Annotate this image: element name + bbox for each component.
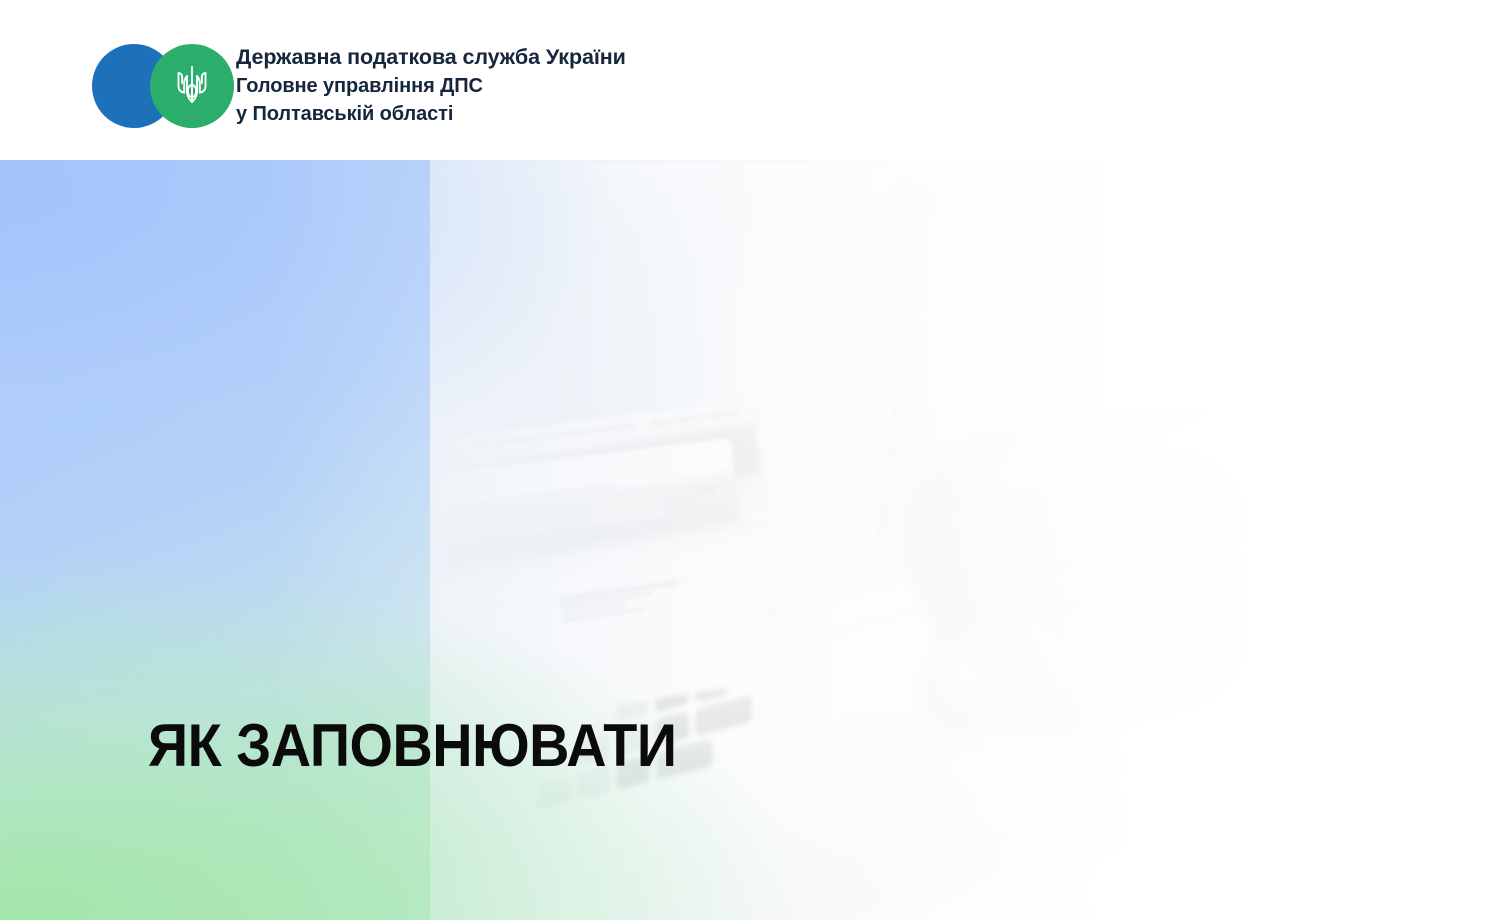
dps-logo[interactable] (92, 42, 224, 132)
organization-department: Головне управління ДПС (236, 73, 626, 99)
page-title: ЯК ЗАПОВНЮВАТИ РЕКВІЗИТ «ПРИЗНАЧЕННЯ ПЛА… (148, 578, 884, 920)
tryzub-icon (174, 64, 210, 108)
organization-region: у Полтавській області (236, 101, 626, 127)
brand-block[interactable]: Державна податкова служба України Головн… (92, 42, 626, 132)
organization-name: Державна податкова служба України (236, 44, 626, 71)
site-header: Державна податкова служба України Головн… (0, 0, 1500, 160)
brand-text: Державна податкова служба України Головн… (236, 42, 626, 128)
banner-canvas: ПІДПИС ВЛАСНИКА КАРТКИ / CARDHOLDER SIGN… (0, 0, 1500, 920)
headline-line-2: РЕКВІЗИТ «ПРИЗНАЧЕННЯ (148, 914, 884, 920)
hero-banner: ПІДПИС ВЛАСНИКА КАРТКИ / CARDHOLDER SIGN… (0, 160, 1500, 920)
headline-line-1: ЯК ЗАПОВНЮВАТИ (148, 712, 884, 779)
